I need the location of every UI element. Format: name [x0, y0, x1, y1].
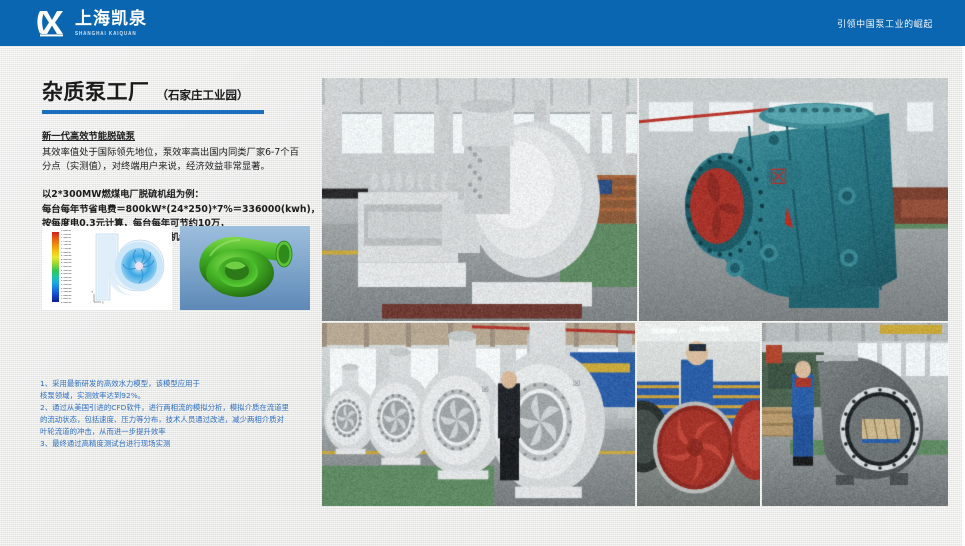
page-title: 杂质泵工厂 （石家庄工业园） [42, 82, 306, 103]
intro-line-1: 其效率值处于国际领先地位，泵效率高出国内同类厂家6-7个百 [42, 147, 299, 158]
cfd-colorbar-tick: 1.125e+01 [61, 248, 85, 250]
kaiquan-kx-mark-icon [36, 8, 68, 38]
cfd-volute-contour-plot: Y X [88, 230, 168, 306]
technical-notes-block: 1、采用最新研发的高效水力模型，该模型应用于 核泵领域，实测效率达到92%。 2… [40, 378, 320, 450]
cfd-colorbar-tick: 9.750e+00 [61, 255, 85, 257]
volute-3d-model-image [180, 226, 310, 310]
cfd-colorbar-icon [52, 232, 59, 302]
note-line-6: 3、最终通过高精度测试台进行现场实测 [40, 438, 320, 450]
cfd-colorbar-tick: 3.750e+00 [61, 284, 85, 286]
intro-heading: 新一代高效节能脱硫泵 [42, 130, 306, 144]
note-line-4: 的流动状态，包括速度、压力等分布，技术人员通过改进，减少两相介质对 [40, 414, 320, 426]
cfd-colorbar-tick: 1.500e+01 [61, 230, 85, 232]
photo-red-impellers [637, 323, 760, 506]
brand-logo[interactable]: 上海凯泉 SHANGHAI KAIQUAN [36, 8, 147, 38]
cfd-colorbar-ticks: 1.500e+011.425e+011.350e+011.275e+011.20… [61, 230, 85, 304]
savings-line-1: 以2*300MW燃煤电厂脱硫机组为例： [42, 188, 306, 202]
simulation-image-row: 1.500e+011.425e+011.350e+011.275e+011.20… [42, 226, 310, 310]
photo-grey-pump-assembly [322, 78, 637, 321]
note-line-2: 核泵领域，实测效率达到92%。 [40, 390, 320, 402]
intro-paragraph: 新一代高效节能脱硫泵 其效率值处于国际领先地位，泵效率高出国内同类厂家6-7个百… [42, 130, 306, 174]
logo-chinese-name: 上海凯泉 [75, 11, 147, 28]
cfd-velocity-contour-image: 1.500e+011.425e+011.350e+011.275e+011.20… [42, 226, 172, 310]
note-line-5: 叶轮流道的冲击，从而进一步提升效率 [40, 426, 320, 438]
photo-teal-pump-casing [639, 78, 948, 321]
note-line-3: 2、通过从美国引进的CFD软件，进行两相流的模拟分析，模拟介质在流道里 [40, 402, 320, 414]
header-tagline: 引领中国泵工业的崛起 [837, 17, 933, 30]
note-line-1: 1、采用最新研发的高效水力模型，该模型应用于 [40, 378, 320, 390]
savings-line-2: 每台每年节省电费＝800kW*(24*250)*7%＝336000(kwh)， [42, 203, 306, 217]
cfd-colorbar-tick: 2.250e+00 [61, 291, 85, 293]
svg-text:X: X [102, 301, 104, 305]
logo-english-name: SHANGHAI KAIQUAN [75, 31, 147, 37]
title-main-text: 杂质泵工厂 [42, 82, 150, 103]
title-subtitle-text: （石家庄工业园） [157, 90, 249, 102]
intro-line-2: 分点（实测值），对终端用户来说，经济效益非常显著。 [42, 161, 270, 172]
svg-text:Y: Y [92, 290, 94, 294]
cfd-colorbar-tick: 1.350e+01 [61, 237, 85, 239]
photo-pump-casing-row [322, 323, 635, 506]
cfd-colorbar-tick: 6.000e+00 [61, 273, 85, 275]
cfd-colorbar-tick: 0.000e+00 [61, 302, 85, 304]
green-volute-3d-render [180, 226, 310, 310]
slide-canvas: 上海凯泉 SHANGHAI KAIQUAN 引领中国泵工业的崛起 杂质泵工厂 （… [0, 0, 965, 546]
photo-gallery [322, 78, 948, 506]
cfd-colorbar-tick: 7.500e+00 [61, 266, 85, 268]
title-underline-rule [42, 110, 264, 114]
photo-large-casing-worker [762, 323, 948, 506]
page-header: 上海凯泉 SHANGHAI KAIQUAN 引领中国泵工业的崛起 [0, 0, 965, 46]
